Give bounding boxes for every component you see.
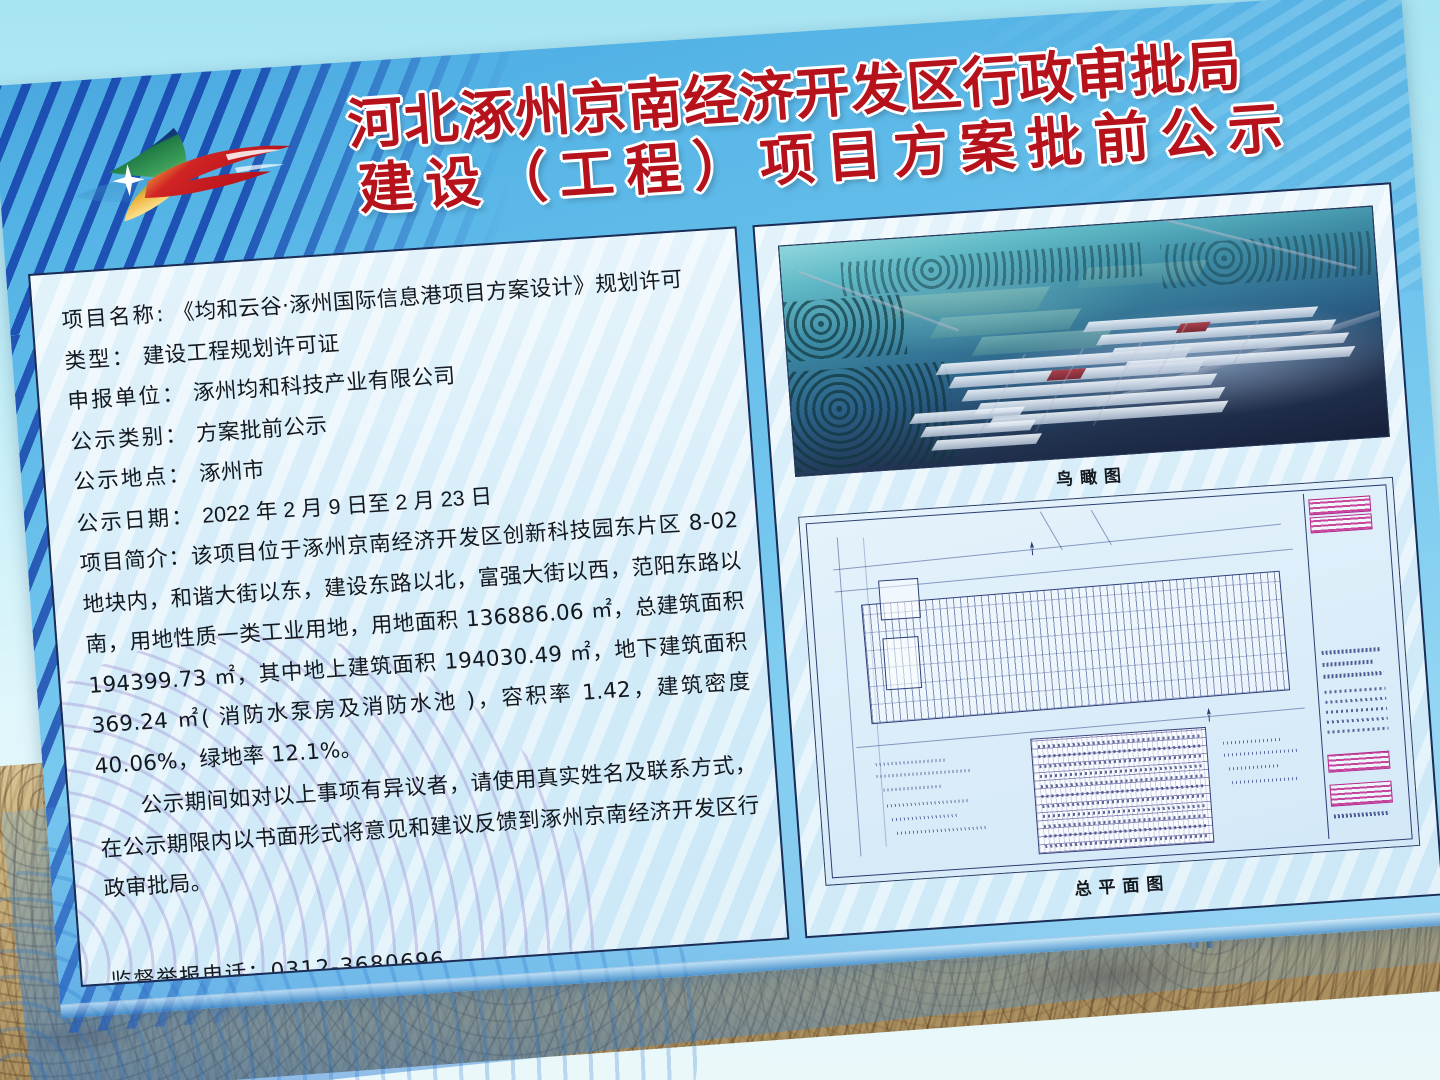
site-plan-block (882, 636, 922, 690)
aerial-view-image (778, 206, 1390, 477)
approval-stamp (1308, 495, 1371, 515)
info-label: 项目名称: (61, 302, 167, 334)
approval-stamp (1329, 781, 1392, 807)
north-arrow-icon (1024, 540, 1041, 557)
aerial-rendering (779, 207, 1389, 476)
info-label: 类型： (64, 344, 137, 374)
approval-stamp (1327, 751, 1390, 773)
info-label: 申报单位： (67, 382, 187, 415)
north-arrow-icon (1200, 706, 1217, 723)
media-panel: 鸟瞰图 (752, 182, 1440, 938)
project-description-paragraph: 项目简介：该项目位于涿州京南经济开发区创新科技园东片区 8-02 地块内，和谐大… (78, 501, 755, 788)
info-label: 公示地点： (73, 462, 193, 495)
public-notice-billboard: 河北涿州京南经济开发区行政审批局 建设（工程）项目方案批前公示 项目名称: 《均… (0, 0, 1440, 1018)
site-plan-block (878, 578, 921, 621)
site-plan-data-table (1030, 727, 1214, 854)
site-plan-image (798, 477, 1420, 886)
info-value: 建设工程规划许可证 (142, 331, 341, 369)
swoosh-ribbon-logo (55, 101, 313, 237)
notice-text-panel: 项目名称: 《均和云谷·涿州国际信息港项目方案设计》规划许可 类型： 建设工程规… (28, 226, 789, 987)
info-label: 公示日期： (76, 504, 196, 537)
info-value: 方案批前公示 (195, 413, 328, 447)
info-value: 涿州市 (198, 458, 265, 487)
site-plan-drawing (799, 478, 1419, 885)
approval-stamp (1310, 513, 1373, 533)
info-label: 公示类别： (70, 422, 190, 455)
notice-text-content: 项目名称: 《均和云谷·涿州国际信息港项目方案设计》规划许可 类型： 建设工程规… (30, 228, 789, 987)
aerial-building-blocks (779, 207, 1389, 476)
